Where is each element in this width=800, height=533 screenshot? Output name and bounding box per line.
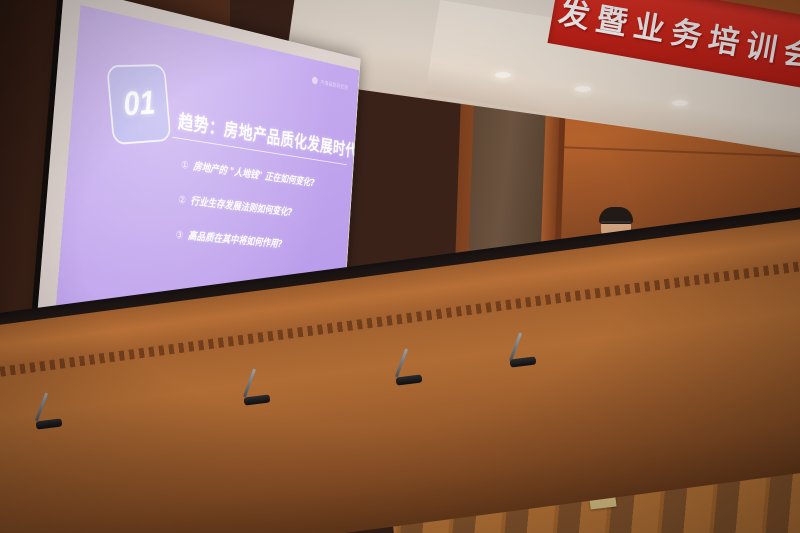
slide-title: 趋势：房地产品质化发展时代的到来 [177,106,348,160]
bullet-text: 行业生存发展法则如何变化? [190,193,293,219]
slide-logo-text: 中国指数研究院 [320,78,348,91]
ceiling-downlight-3 [672,100,688,106]
glasses-icon [601,221,631,229]
list-item: ③ 高品质在其中将如何作用? [175,227,346,256]
ceiling-downlight-1 [495,72,511,78]
bullet-text: 高品质在其中将如何作用? [187,228,282,251]
conference-room-photo: 发暨业务培训会 中国指数研究院 01 趋势：房地产品质化发展时代的到来 ① 房地… [0,0,800,533]
logo-mark-icon [312,76,318,85]
ceiling-downlight-2 [575,86,591,92]
list-item: ② 行业生存发展法则如何变化? [178,192,349,225]
bullet-marker: ① [181,158,189,171]
bullet-marker: ③ [175,228,183,241]
list-item: ① 房地产的 "人地钱" 正在如何变化? [181,157,351,194]
bullet-marker: ② [178,193,186,206]
section-number: 01 [122,84,157,124]
section-number-badge: 01 [106,64,171,145]
bullet-text: 房地产的 "人地钱" 正在如何变化? [193,159,315,190]
slide-logo: 中国指数研究院 [312,76,349,91]
slide-bullet-list: ① 房地产的 "人地钱" 正在如何变化? ② 行业生存发展法则如何变化? ③ 高… [174,157,351,274]
